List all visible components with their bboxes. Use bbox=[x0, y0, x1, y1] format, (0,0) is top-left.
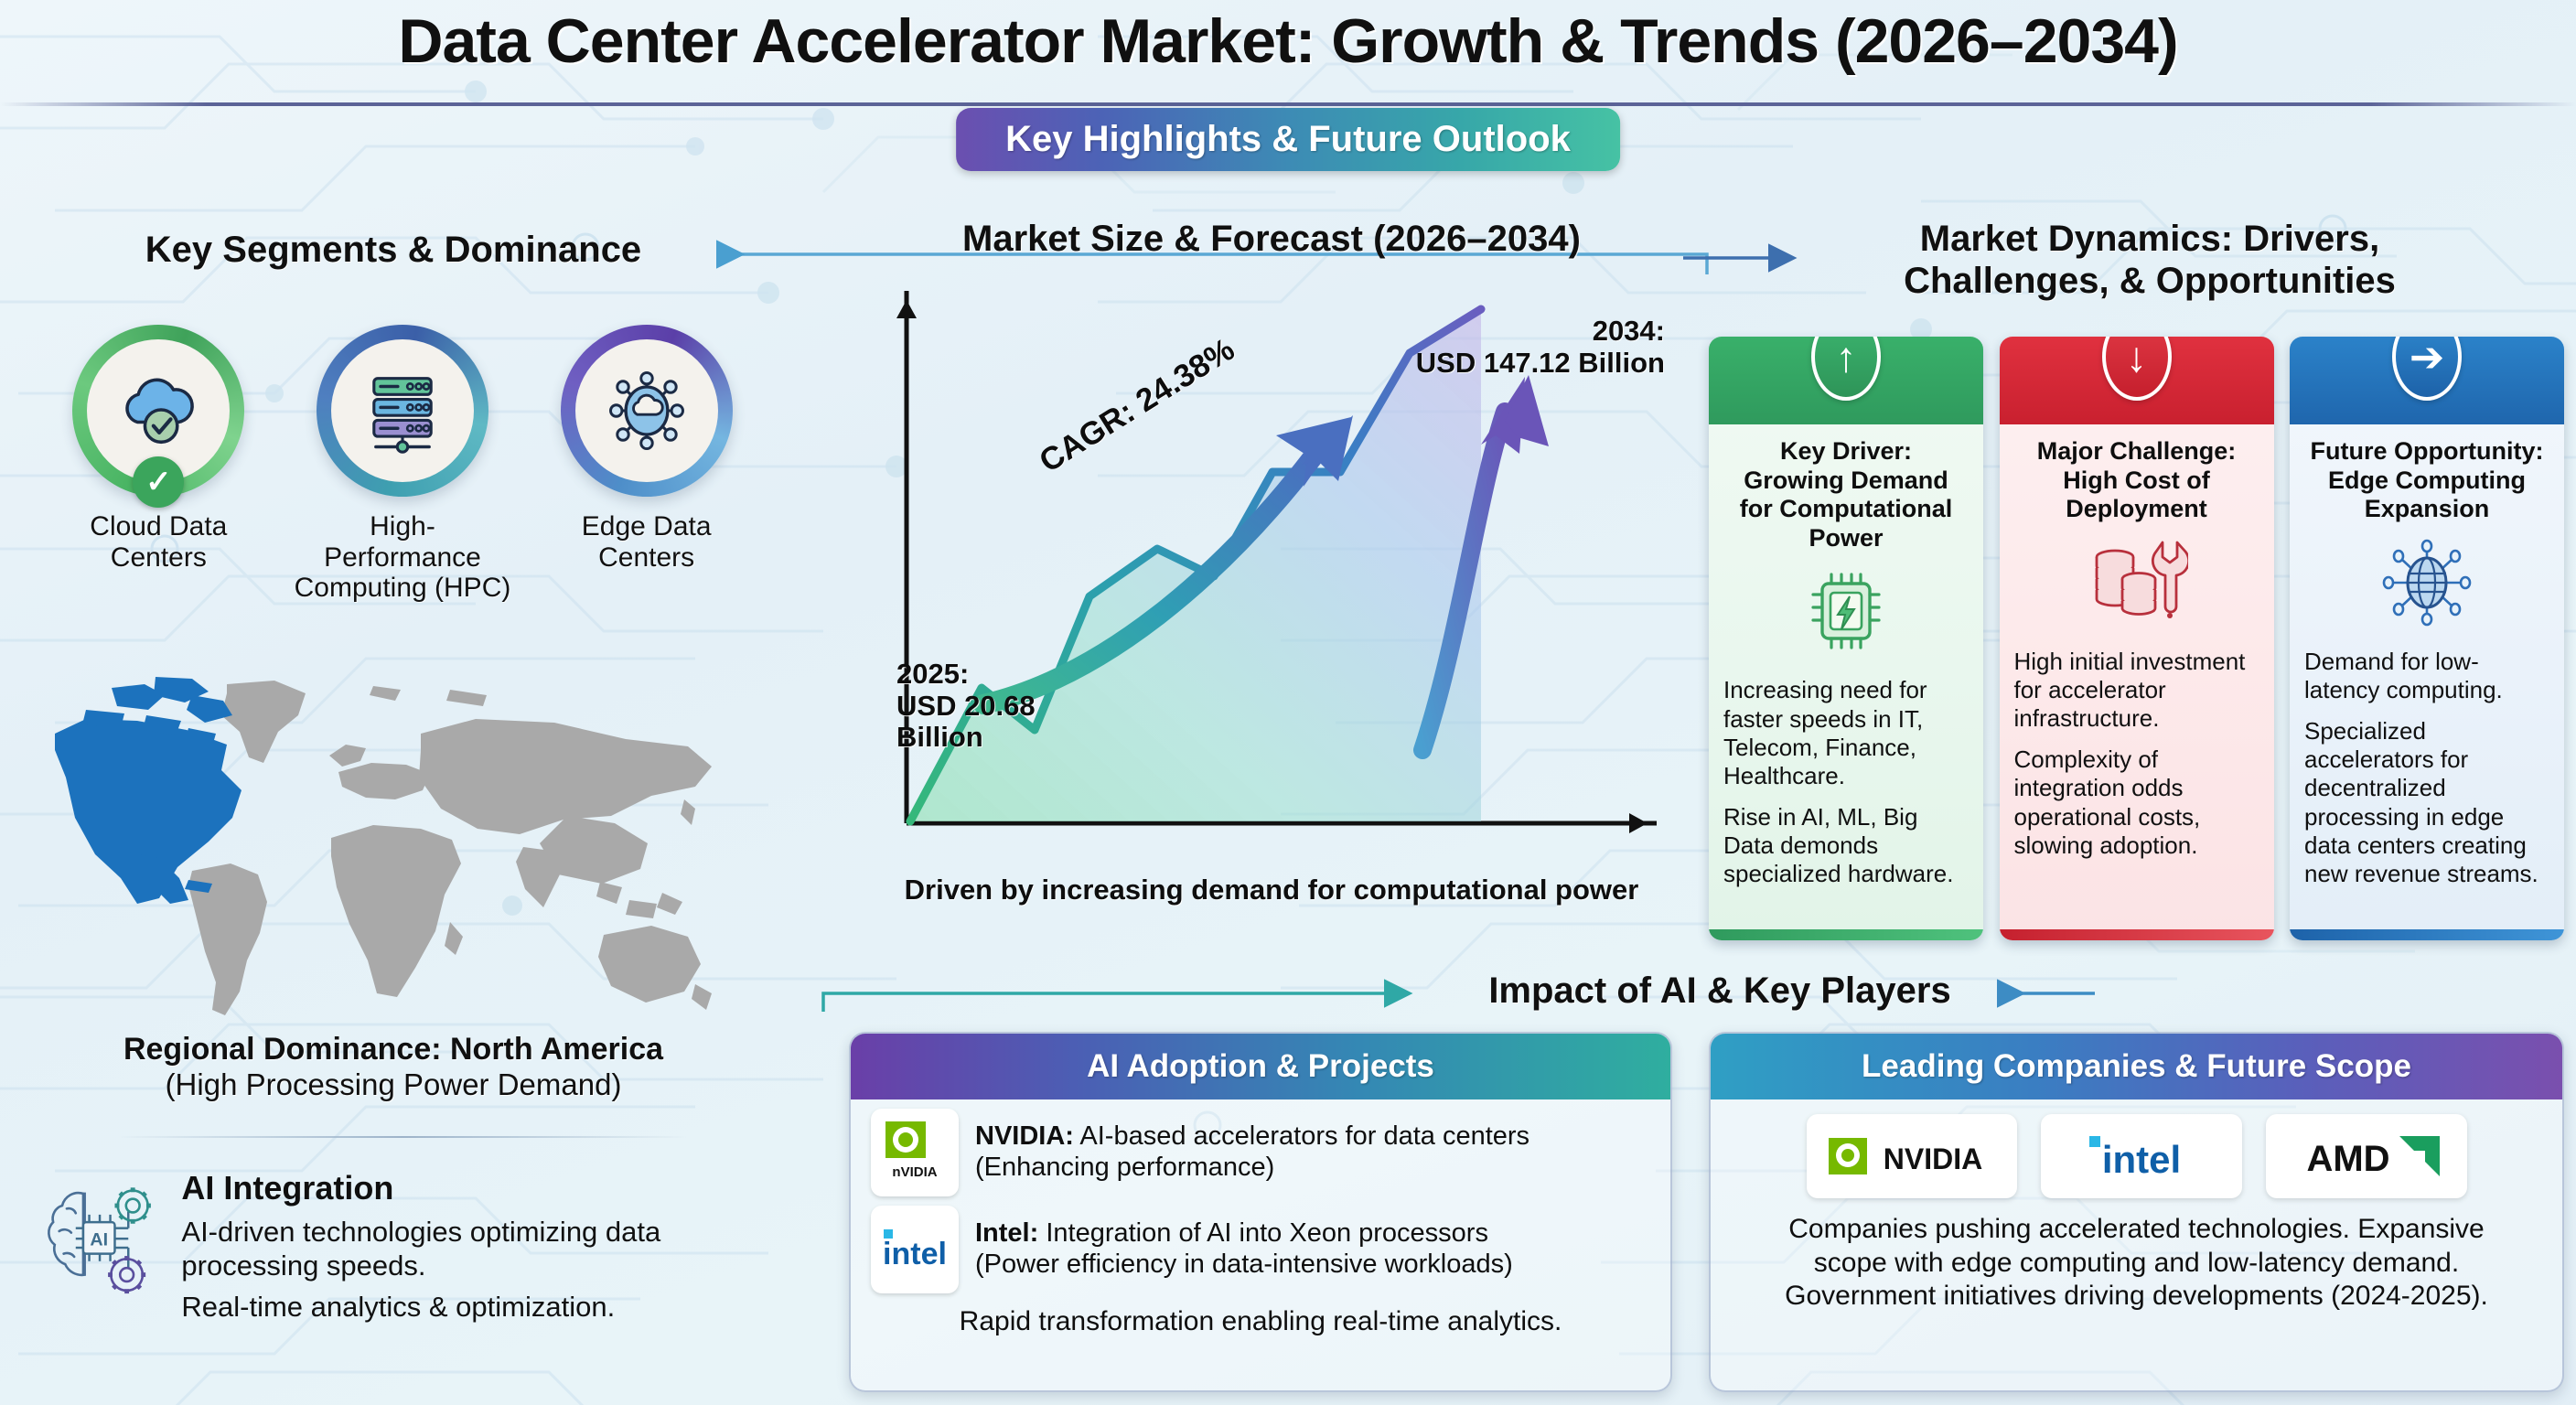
chart-end-year: 2034: bbox=[1593, 315, 1665, 347]
card-icon bbox=[1800, 565, 1892, 661]
ai-integration-block: AI AI Integration AI-driven technologies… bbox=[41, 1162, 782, 1332]
amd-logo: AMD bbox=[2284, 1131, 2449, 1182]
card-title-line2: Growing Demand bbox=[1744, 467, 1948, 494]
up-arrow-icon: ↑ bbox=[1836, 337, 1857, 378]
card-header: ↑ bbox=[1709, 337, 1983, 424]
chart-heading: Market Size & Forecast (2026–2034) bbox=[860, 218, 1683, 260]
world-map-base bbox=[188, 681, 712, 1015]
dynamics-card-future-opportunity[interactable]: ➔ Future Opportunity: Edge Computing Exp… bbox=[2290, 337, 2564, 940]
segment-icon-disc bbox=[575, 339, 718, 482]
segment-check-badge: ✓ bbox=[133, 456, 184, 508]
segment-cloud-data-centers[interactable]: ✓ Cloud Data Centers bbox=[48, 325, 268, 573]
card-body: Major Challenge: High Cost of Deployment bbox=[2000, 424, 2274, 929]
subtitle-pill: Key Highlights & Future Outlook bbox=[956, 108, 1620, 171]
leading-companies-footer: Companies pushing accelerated technologi… bbox=[1711, 1204, 2562, 1314]
card-title: Key Driver: Growing Demand for Computati… bbox=[1740, 437, 1952, 552]
dynamics-heading-line1: Market Dynamics: Drivers, bbox=[1920, 219, 2379, 259]
chart-start-label: 2025: USD 20.68 Billion bbox=[896, 659, 1107, 754]
ai-adoption-nvidia-company: NVIDIA: bbox=[975, 1121, 1074, 1151]
segment-label: High-Performance Computing (HPC) bbox=[293, 511, 512, 604]
companies-footer-line3: Government initiatives driving developme… bbox=[1785, 1281, 2488, 1311]
intel-logo: intel bbox=[2064, 1131, 2219, 1182]
nvidia-logo: NVIDIA bbox=[1825, 1131, 1999, 1182]
cloud-check-icon bbox=[111, 363, 206, 458]
segments-row: ✓ Cloud Data Centers bbox=[37, 325, 768, 604]
segment-label-line1: High-Performance bbox=[324, 511, 481, 573]
ai-adoption-intel-text: Intel: Integration of AI into Xeon proce… bbox=[975, 1218, 1513, 1280]
ai-adoption-intel-desc: Integration of AI into Xeon processors bbox=[1038, 1218, 1488, 1248]
ai-adoption-panel: AI Adoption & Projects nVIDIA NVIDIA: AI… bbox=[849, 1032, 1672, 1392]
segment-label-line2: Centers bbox=[598, 542, 694, 573]
title-divider bbox=[0, 102, 2576, 106]
card-title-line1: Future Opportunity: bbox=[2311, 437, 2544, 465]
card-icon bbox=[2377, 537, 2476, 633]
ai-integration-line1: AI-driven technologies optimizing data p… bbox=[181, 1215, 782, 1282]
ai-adoption-nvidia-text: NVIDIA: AI-based accelerators for data c… bbox=[975, 1121, 1529, 1183]
svg-text:NVIDIA: NVIDIA bbox=[1883, 1142, 1981, 1175]
card-title: Major Challenge: High Cost of Deployment bbox=[2037, 437, 2237, 524]
card-footer-accent bbox=[2000, 929, 2274, 940]
card-body-text-1: Increasing need for faster speeds in IT,… bbox=[1723, 676, 1969, 790]
dynamics-card-major-challenge[interactable]: ↓ Major Challenge: High Cost of Deployme… bbox=[2000, 337, 2274, 940]
intel-logo: intel bbox=[871, 1206, 959, 1293]
region-heading-line2: (High Processing Power Demand) bbox=[166, 1067, 622, 1101]
chart-caption: Driven by increasing demand for computat… bbox=[860, 874, 1683, 906]
card-body-text-1: High initial investment for accelerator … bbox=[2014, 648, 2259, 734]
segment-label: Cloud Data Centers bbox=[48, 511, 268, 573]
region-dominance-heading: Regional Dominance: North America (High … bbox=[9, 1032, 778, 1104]
companies-footer-line1: Companies pushing accelerated technologi… bbox=[1788, 1214, 2484, 1244]
down-arrow-badge: ↓ bbox=[2102, 337, 2172, 401]
title-bar: Data Center Accelerator Market: Growth &… bbox=[0, 5, 2576, 77]
chip-bolt-icon bbox=[1800, 565, 1892, 657]
up-arrow-badge: ↑ bbox=[1811, 337, 1881, 401]
amd-logo-box[interactable]: AMD bbox=[2266, 1114, 2467, 1198]
segment-label-line1: Cloud Data bbox=[90, 511, 227, 542]
chart-end-value: USD 147.12 Billion bbox=[1416, 347, 1665, 379]
impact-heading: Impact of AI & Key Players bbox=[1427, 970, 2012, 1012]
edge-network-icon bbox=[599, 363, 694, 458]
region-divider bbox=[119, 1136, 686, 1138]
svg-text:AI: AI bbox=[90, 1230, 108, 1250]
dynamics-heading: Market Dynamics: Drivers, Challenges, & … bbox=[1738, 218, 2561, 303]
right-arrow-icon: ➔ bbox=[2410, 337, 2445, 378]
segment-circle: ✓ bbox=[72, 325, 244, 497]
segment-circle bbox=[317, 325, 488, 497]
card-title-line1: Major Challenge: bbox=[2037, 437, 2237, 465]
coins-wrench-icon bbox=[2086, 537, 2188, 628]
segment-edge-data-centers[interactable]: Edge Data Centers bbox=[537, 325, 757, 573]
segment-high-performance-computing[interactable]: High-Performance Computing (HPC) bbox=[293, 325, 512, 604]
intel-logo-icon: intel bbox=[876, 1222, 953, 1277]
globe-network-icon bbox=[2377, 537, 2476, 628]
card-body-text-2: Specialized accelerators for decentraliz… bbox=[2304, 717, 2549, 888]
svg-text:intel: intel bbox=[2101, 1138, 2180, 1181]
segment-label-line2: Centers bbox=[111, 542, 207, 573]
ai-adoption-row-intel[interactable]: intel Intel: Integration of AI into Xeon… bbox=[851, 1196, 1670, 1293]
card-title-line2: Edge Computing bbox=[2328, 467, 2526, 494]
intel-logo-box[interactable]: intel bbox=[2041, 1114, 2242, 1198]
card-title-line1: Key Driver: bbox=[1780, 437, 1912, 465]
ai-adoption-panel-title: AI Adoption & Projects bbox=[851, 1034, 1670, 1099]
nvidia-logo-icon: nVIDIA bbox=[878, 1116, 951, 1189]
ai-adoption-row-nvidia[interactable]: nVIDIA NVIDIA: AI-based accelerators for… bbox=[851, 1099, 1670, 1196]
ai-adoption-intel-sub: (Power efficiency in data-intensive work… bbox=[975, 1249, 1513, 1279]
dynamics-cards: ↑ Key Driver: Growing Demand for Computa… bbox=[1709, 337, 2564, 940]
leading-companies-panel-title: Leading Companies & Future Scope bbox=[1711, 1034, 2562, 1099]
chart-start-value: USD 20.68 bbox=[896, 690, 1036, 722]
card-header: ↓ bbox=[2000, 337, 2274, 424]
ai-adoption-nvidia-sub: (Enhancing performance) bbox=[975, 1153, 1274, 1182]
card-body-text-2: Complexity of integration odds operation… bbox=[2014, 745, 2259, 860]
dynamics-heading-line2: Challenges, & Opportunities bbox=[1904, 261, 2396, 301]
brain-ai-gears-icon: AI bbox=[41, 1162, 161, 1317]
segment-circle bbox=[561, 325, 733, 497]
card-title-line3: Expansion bbox=[2365, 495, 2490, 522]
companies-footer-line2: scope with edge computing and low-latenc… bbox=[1814, 1248, 2459, 1278]
chart-start-year: 2025: bbox=[896, 658, 969, 690]
svg-text:intel: intel bbox=[883, 1237, 947, 1271]
segment-label: Edge Data Centers bbox=[537, 511, 757, 573]
right-arrow-badge: ➔ bbox=[2392, 337, 2462, 401]
ai-integration-title: AI Integration bbox=[181, 1169, 782, 1207]
segments-heading: Key Segments & Dominance bbox=[18, 229, 768, 271]
down-arrow-icon: ↓ bbox=[2126, 337, 2147, 378]
ai-adoption-intel-company: Intel: bbox=[975, 1218, 1038, 1248]
card-title-line2: High Cost of bbox=[2063, 467, 2209, 494]
company-logo-strip: NVIDIA intel AMD bbox=[1711, 1099, 2562, 1204]
nvidia-logo: nVIDIA bbox=[871, 1109, 959, 1196]
card-footer-accent bbox=[2290, 929, 2564, 940]
card-title: Future Opportunity: Edge Computing Expan… bbox=[2311, 437, 2544, 524]
chart-end-label: 2034: USD 147.12 Billion bbox=[1354, 316, 1665, 379]
leading-companies-panel: Leading Companies & Future Scope NVIDIA … bbox=[1709, 1032, 2564, 1392]
nvidia-logo-box[interactable]: NVIDIA bbox=[1807, 1114, 2017, 1198]
card-title-line3: for Computational bbox=[1740, 495, 1952, 522]
page-title: Data Center Accelerator Market: Growth &… bbox=[0, 5, 2576, 77]
ai-integration-text: AI Integration AI-driven technologies op… bbox=[181, 1162, 782, 1332]
svg-text:nVIDIA: nVIDIA bbox=[892, 1164, 937, 1180]
world-map bbox=[55, 677, 768, 1024]
svg-text:AMD: AMD bbox=[2306, 1139, 2389, 1179]
card-body-text-2: Rise in AI, ML, Big Data demonds special… bbox=[1723, 803, 1969, 889]
server-rack-icon bbox=[355, 363, 450, 458]
region-heading-line1: Regional Dominance: North America bbox=[123, 1032, 663, 1067]
card-title-line3: Deployment bbox=[2066, 495, 2207, 522]
segment-label-line1: Edge Data bbox=[582, 511, 712, 542]
ai-integration-line2: Real-time analytics & optimization. bbox=[181, 1290, 782, 1324]
card-body: Key Driver: Growing Demand for Computati… bbox=[1709, 424, 1983, 929]
card-title-line4: Power bbox=[1809, 524, 1883, 552]
ai-adoption-footer: Rapid transformation enabling real-time … bbox=[851, 1293, 1670, 1337]
segment-label-line2: Computing (HPC) bbox=[295, 573, 511, 603]
card-header: ➔ bbox=[2290, 337, 2564, 424]
card-icon bbox=[2086, 537, 2188, 633]
card-body-text-1: Demand for low-latency computing. bbox=[2304, 648, 2549, 704]
card-footer-accent bbox=[1709, 929, 1983, 940]
dynamics-card-key-driver[interactable]: ↑ Key Driver: Growing Demand for Computa… bbox=[1709, 337, 1983, 940]
chart-start-unit: Billion bbox=[896, 721, 983, 753]
ai-adoption-nvidia-desc: AI-based accelerators for data centers bbox=[1074, 1121, 1529, 1151]
segment-icon-disc bbox=[331, 339, 474, 482]
card-body: Future Opportunity: Edge Computing Expan… bbox=[2290, 424, 2564, 929]
